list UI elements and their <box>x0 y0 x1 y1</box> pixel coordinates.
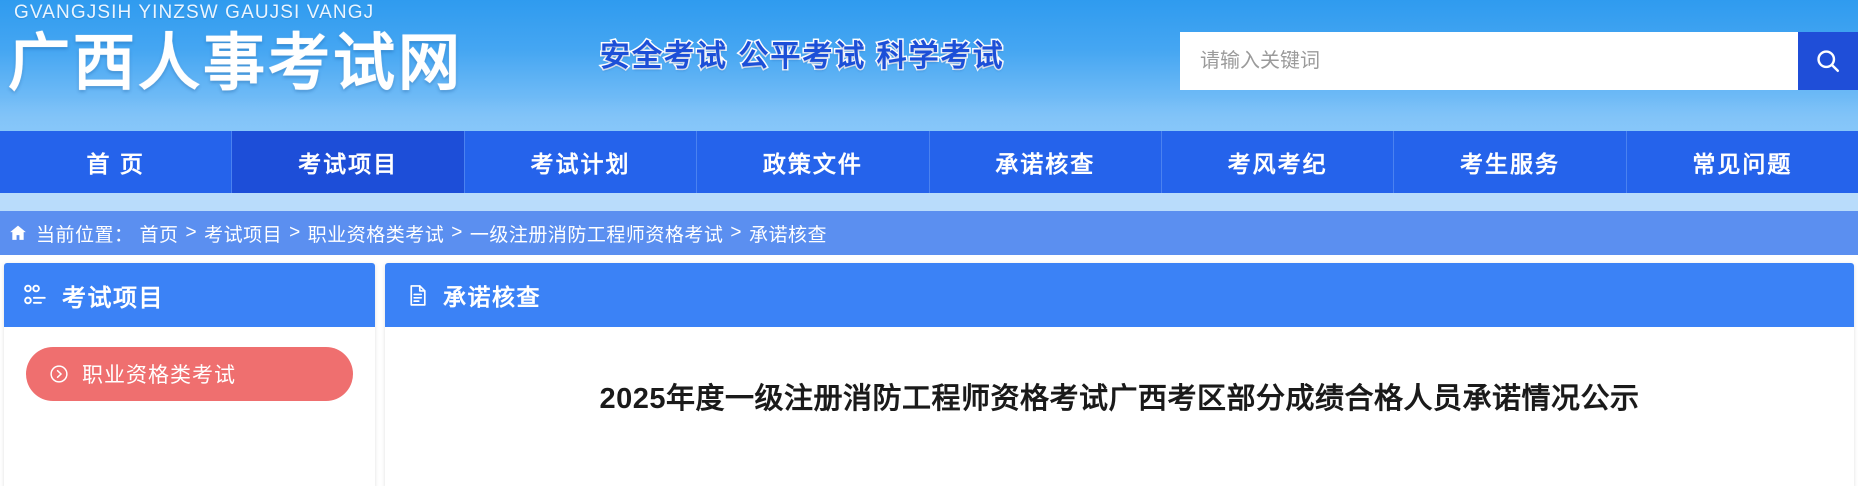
document-icon <box>405 283 430 308</box>
nav-item-label: 考生服务 <box>1460 145 1560 179</box>
nav-item-home[interactable]: 首 页 <box>0 131 232 193</box>
main-panel: 承诺核查 2025年度一级注册消防工程师资格考试广西考区部分成绩合格人员承诺情况… <box>385 263 1854 486</box>
search-box <box>1180 32 1858 90</box>
logo-main-text: 广西人事考试网 <box>8 26 428 100</box>
breadcrumb-item-exam-projects[interactable]: 考试项目 <box>204 220 282 247</box>
search-icon <box>1814 47 1842 75</box>
nav-item-exam-plan[interactable]: 考试计划 <box>465 131 697 193</box>
breadcrumb-item-vocational-exams[interactable]: 职业资格类考试 <box>308 220 445 247</box>
article-title: 2025年度一级注册消防工程师资格考试广西考区部分成绩合格人员承诺情况公示 <box>385 327 1854 417</box>
breadcrumb-separator: > <box>289 222 301 244</box>
site-logo[interactable]: GVANGJSIH YINZSW GAUJSI VANGJ 广西人事考试网 <box>8 0 428 100</box>
nav-item-label: 考试项目 <box>298 145 398 179</box>
main-navigation: 首 页 考试项目 考试计划 政策文件 承诺核查 考风考纪 考生服务 常见问题 <box>0 131 1858 193</box>
breadcrumb-item-commitment-check[interactable]: 承诺核查 <box>749 220 827 247</box>
sidebar-title: 考试项目 <box>62 278 164 313</box>
nav-item-exam-discipline[interactable]: 考风考纪 <box>1162 131 1394 193</box>
breadcrumb-separator: > <box>186 222 198 244</box>
main-panel-title: 承诺核查 <box>443 278 541 312</box>
breadcrumb-separator: > <box>730 222 742 244</box>
site-header: GVANGJSIH YINZSW GAUJSI VANGJ 广西人事考试网 安全… <box>0 0 1858 131</box>
logo-zhuang-text: GVANGJSIH YINZSW GAUJSI VANGJ <box>8 0 428 26</box>
main-panel-header: 承诺核查 <box>385 263 1854 327</box>
nav-item-policy-docs[interactable]: 政策文件 <box>697 131 929 193</box>
breadcrumb-label: 当前位置： <box>36 220 134 247</box>
breadcrumb: 当前位置： 首页 > 考试项目 > 职业资格类考试 > 一级注册消防工程师资格考… <box>0 211 1858 255</box>
nav-item-commitment-check[interactable]: 承诺核查 <box>930 131 1162 193</box>
search-button[interactable] <box>1798 32 1858 90</box>
sidebar-panel: 考试项目 职业资格类考试 <box>4 263 375 486</box>
breadcrumb-item-home[interactable]: 首页 <box>140 220 179 247</box>
sidebar-item-label: 职业资格类考试 <box>82 359 236 389</box>
page-root: GVANGJSIH YINZSW GAUJSI VANGJ 广西人事考试网 安全… <box>0 0 1858 486</box>
nav-item-label: 常见问题 <box>1692 145 1792 179</box>
sidebar-header: 考试项目 <box>4 263 375 327</box>
content-area: 考试项目 职业资格类考试 <box>0 255 1858 486</box>
header-slogan: 安全考试 公平考试 科学考试 <box>600 31 1005 75</box>
nav-item-label: 承诺核查 <box>995 145 1095 179</box>
sidebar-menu: 职业资格类考试 <box>4 327 375 401</box>
nav-item-label: 首 页 <box>86 145 144 179</box>
nav-item-label: 政策文件 <box>763 145 863 179</box>
chevron-right-circle-icon <box>48 363 70 385</box>
nav-item-label: 考试计划 <box>530 145 630 179</box>
nav-item-candidate-services[interactable]: 考生服务 <box>1394 131 1626 193</box>
breadcrumb-spacer <box>0 193 1858 211</box>
breadcrumb-separator: > <box>451 222 463 244</box>
home-icon <box>8 223 28 243</box>
breadcrumb-item-fire-engineer-exam[interactable]: 一级注册消防工程师资格考试 <box>470 220 724 247</box>
nav-item-faq[interactable]: 常见问题 <box>1627 131 1858 193</box>
nav-item-exam-projects[interactable]: 考试项目 <box>232 131 464 193</box>
sidebar-item-vocational-exams[interactable]: 职业资格类考试 <box>26 347 353 401</box>
nav-item-label: 考风考纪 <box>1228 145 1328 179</box>
grid-icon <box>22 282 48 308</box>
search-input[interactable] <box>1180 32 1798 90</box>
